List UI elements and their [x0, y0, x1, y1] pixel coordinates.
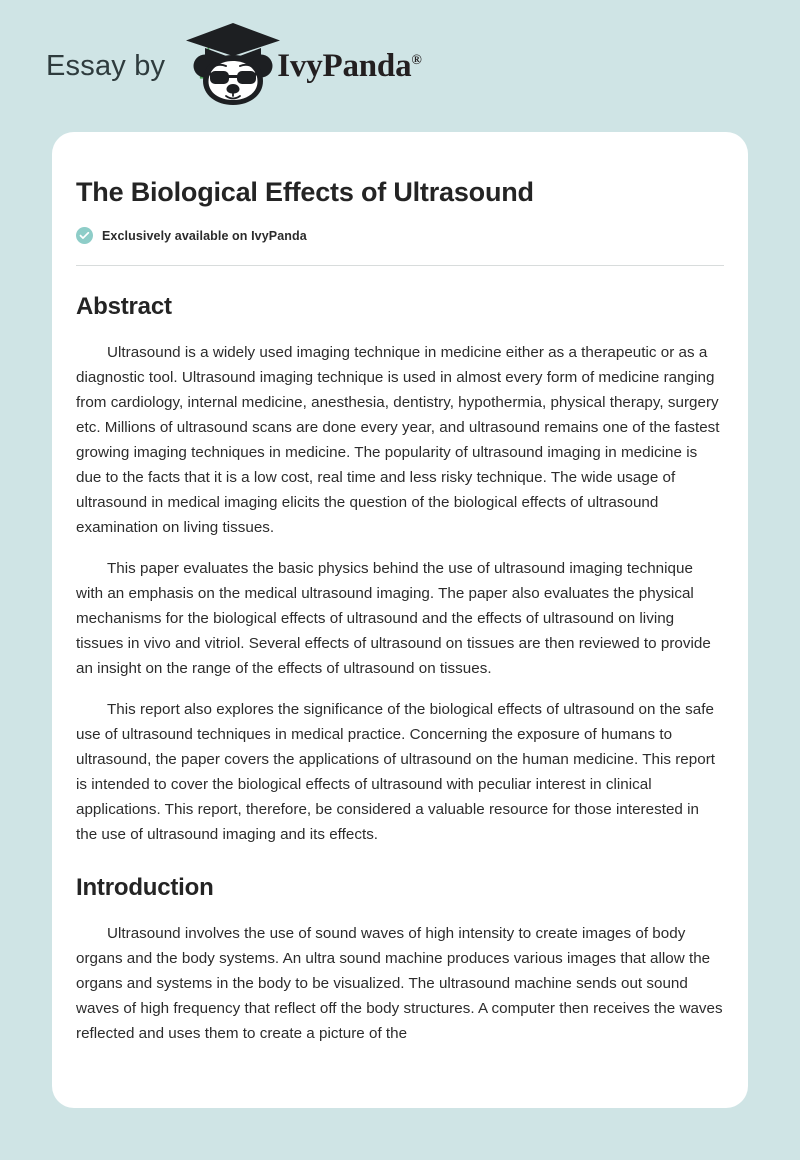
ivypanda-panda-graduate-logo-icon [181, 25, 285, 107]
abstract-paragraph-3: This report also explores the significan… [76, 697, 724, 847]
section-heading-introduction: Introduction [76, 874, 724, 902]
section-heading-abstract: Abstract [76, 293, 724, 321]
essay-content: The Biological Effects of Ultrasound Exc… [76, 176, 724, 1046]
abstract-paragraph-2: This paper evaluates the basic physics b… [76, 556, 724, 681]
essay-paper-card: The Biological Effects of Ultrasound Exc… [52, 132, 748, 1108]
abstract-paragraph-1: Ultrasound is a widely used imaging tech… [76, 340, 724, 540]
exclusive-availability-label: Exclusively available on IvyPanda [102, 229, 307, 243]
essay-by-label: Essay by [46, 50, 165, 83]
brand-name-text: IvyPanda [277, 48, 411, 84]
ivypanda-logo[interactable]: IvyPanda® [181, 25, 421, 107]
exclusive-availability-badge: Exclusively available on IvyPanda [76, 227, 724, 244]
brand-wordmark: IvyPanda® [277, 48, 421, 85]
registered-trademark-symbol: ® [411, 53, 421, 68]
brand-header: Essay by [0, 0, 800, 132]
page-title: The Biological Effects of Ultrasound [76, 176, 724, 208]
check-circle-icon [76, 227, 93, 244]
introduction-paragraph-1: Ultrasound involves the use of sound wav… [76, 921, 724, 1046]
header-divider [76, 265, 724, 266]
